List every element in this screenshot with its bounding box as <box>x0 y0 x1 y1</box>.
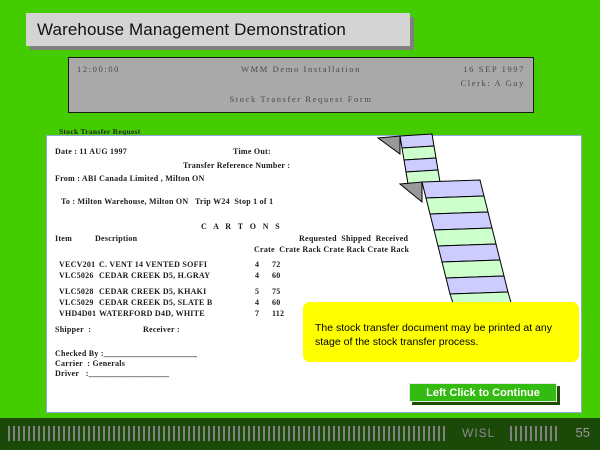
fanfold-band <box>422 180 484 198</box>
line-item-crate: 7 <box>255 309 259 318</box>
line-item-description: WATERFORD D4D, WHITE <box>99 309 205 318</box>
document-driver: Driver :___________________ <box>55 370 169 378</box>
line-item-code: VECV201 <box>59 260 95 269</box>
callout-text: The stock transfer document may be print… <box>315 321 573 349</box>
footer-bars-right <box>510 426 558 441</box>
left-click-to-continue-button[interactable]: Left Click to Continue <box>409 383 557 402</box>
line-item-description: CEDAR CREEK D5, KHAKI <box>99 287 206 296</box>
line-item-rack: 72 <box>272 260 281 269</box>
terminal-panel: 12:00:00 WMM Demo Installation 16 SEP 19… <box>68 57 534 113</box>
document-checked-by: Checked By :______________________ <box>55 350 197 358</box>
line-item-code: VLC5028 <box>59 287 94 296</box>
page-title-text: Warehouse Management Demonstration <box>37 20 346 40</box>
line-item-description: CEDAR CREEK D5, SLATE B <box>99 298 212 307</box>
fanfold-band <box>430 212 492 230</box>
document-to: To : Milton Warehouse, Milton ON Trip W2… <box>61 198 273 206</box>
line-item-code: VHD4D01 <box>59 309 96 318</box>
line-item-rack: 112 <box>272 309 284 318</box>
fanfold-band <box>426 196 488 214</box>
line-item-crate: 4 <box>255 271 259 280</box>
line-item-rack: 60 <box>272 298 281 307</box>
column-header-item: Item <box>55 235 72 243</box>
footer-brand: WISL <box>462 426 495 440</box>
document-shipper: Shipper : <box>55 326 91 334</box>
document-receiver: Receiver : <box>143 326 180 334</box>
footer-bars-left <box>8 426 448 441</box>
terminal-installation: WMM Demo Installation <box>241 64 361 74</box>
column-header-description: Description <box>95 235 137 243</box>
paper-tear-lower <box>400 182 422 202</box>
paper-tear-upper <box>378 136 400 154</box>
document-reference: Transfer Reference Number : <box>183 162 290 170</box>
continue-button-label: Left Click to Continue <box>426 387 540 399</box>
document-time-out: Time Out: <box>233 148 271 156</box>
fanfold-band <box>442 260 504 278</box>
footer-bar: WISL 55 <box>0 418 600 450</box>
line-item-crate: 5 <box>255 287 259 296</box>
document-carrier: Carrier : Generals <box>55 360 125 368</box>
line-item-rack: 60 <box>272 271 281 280</box>
document-cartons-header: C A R T O N S <box>201 223 282 231</box>
document-from: From : ABI Canada Limited , Milton ON <box>55 175 205 183</box>
terminal-date: 16 SEP 1997 <box>463 64 525 74</box>
fanfold-band <box>438 244 500 262</box>
terminal-time: 12:00:00 <box>77 64 120 74</box>
slide-canvas: Warehouse Management Demonstration 12:00… <box>0 0 600 450</box>
line-item-rack: 75 <box>272 287 281 296</box>
fanfold-band <box>434 228 496 246</box>
fanfold-paper-graphic <box>370 126 515 306</box>
callout-box: The stock transfer document may be print… <box>303 302 579 362</box>
line-item-crate: 4 <box>255 298 259 307</box>
footer-page-number: 55 <box>576 425 590 440</box>
terminal-clerk: Clerk: A Guy <box>460 78 525 88</box>
line-item-description: C. VENT 14 VENTED SOFFI <box>99 260 207 269</box>
line-item-code: VLC5026 <box>59 271 94 280</box>
line-item-crate: 4 <box>255 260 259 269</box>
line-item-code: VLC5029 <box>59 298 94 307</box>
line-item-description: CEDAR CREEK D5, H.GRAY <box>99 271 210 280</box>
page-title: Warehouse Management Demonstration <box>26 13 410 46</box>
document-date: Date : 11 AUG 1997 <box>55 148 127 156</box>
terminal-form-title: Stock Transfer Request Form <box>229 94 372 104</box>
fanfold-band <box>446 276 508 294</box>
